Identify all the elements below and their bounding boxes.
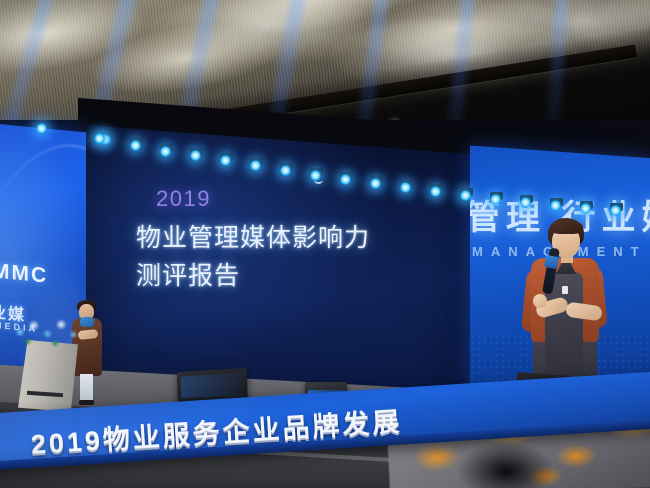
presenter-legs	[80, 374, 93, 402]
stage-spotlight	[160, 146, 171, 157]
conference-stage-photo: MMC 业媒 MEDIA 2019 物业管理媒体影响力 测评报告 管理 行业媒 …	[0, 0, 650, 488]
speaker-bangs	[550, 220, 583, 234]
stage-spotlight	[610, 205, 621, 216]
stage-spotlight	[460, 190, 471, 201]
stage-spotlight	[130, 140, 141, 151]
stage-spotlight	[190, 150, 201, 161]
stage-spotlight	[220, 155, 231, 166]
stage-spotlight	[370, 178, 381, 189]
left-panel-logo-text: MMC	[0, 259, 48, 288]
stage-spotlight	[490, 194, 501, 205]
stage-spotlight	[250, 160, 261, 171]
stage-spotlight-row	[62, 116, 650, 206]
speaker-badge	[562, 286, 568, 294]
stage-spotlight	[520, 197, 531, 208]
stage-spotlight	[36, 123, 47, 134]
stage-spotlight	[400, 182, 411, 193]
stage-spotlight	[580, 203, 591, 214]
stage-spotlight	[430, 186, 441, 197]
presenter-shoes	[79, 400, 94, 405]
screen-logo-bug-icon	[314, 176, 323, 184]
stage-spotlight	[340, 174, 351, 185]
screen-title-line2: 测评报告	[136, 256, 240, 292]
screen-title-line1: 物业管理媒体影响力	[136, 218, 370, 254]
stage-spotlight	[94, 133, 105, 144]
stage-spotlight	[550, 200, 561, 211]
speaker-hand	[533, 294, 547, 308]
stage-spotlight	[280, 165, 291, 176]
microphone-flag	[544, 255, 559, 269]
